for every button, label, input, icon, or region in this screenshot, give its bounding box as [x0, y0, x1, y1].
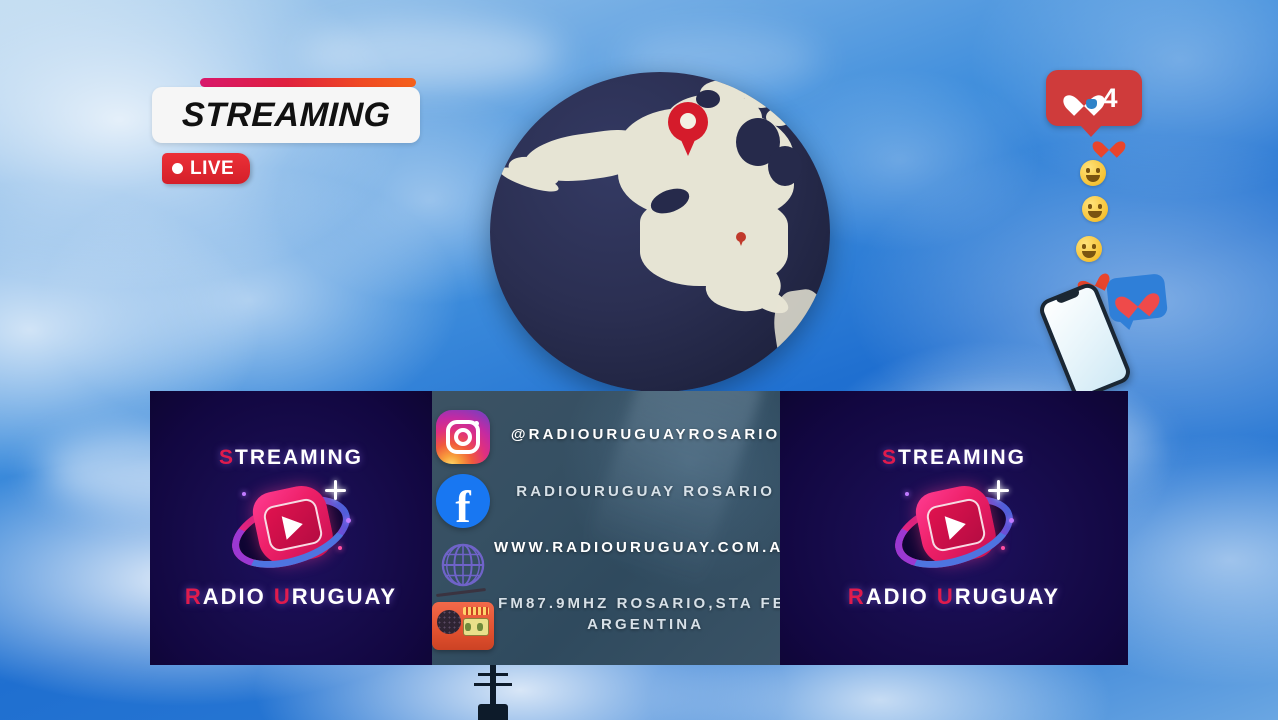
- banner-accent-bar: [200, 78, 416, 87]
- website-globe-icon[interactable]: [436, 538, 490, 592]
- logo-text-rest: TREAMING: [235, 446, 363, 469]
- like-count: 4: [1102, 85, 1117, 112]
- left-logo-streaming-text: STREAMING: [219, 446, 363, 470]
- smile-emoji-icon: [1082, 196, 1108, 222]
- live-label: LIVE: [190, 158, 234, 180]
- right-logo-streaming-text: STREAMING: [882, 446, 1026, 470]
- right-logo-panel: STREAMING RADIO URUGUAY: [780, 391, 1128, 665]
- play-button-logo-icon: [889, 474, 1019, 582]
- social-icon-column: f: [432, 391, 494, 665]
- social-text-column: @RADIOURUGUAYROSARIO RADIOURUGUAY ROSARI…: [494, 391, 780, 665]
- live-dot-icon: [172, 163, 183, 174]
- landmass: [770, 287, 830, 390]
- location-pin-icon: [668, 102, 708, 156]
- streaming-banner: STREAMING LIVE: [152, 78, 420, 196]
- live-badge: LIVE: [162, 153, 250, 184]
- logo-text-rest: RUGUAY: [292, 584, 397, 609]
- instagram-handle: @RADIOURUGUAYROSARIO: [494, 425, 780, 445]
- reaction-bubble: [1106, 273, 1168, 323]
- globe-sphere: [490, 72, 830, 392]
- smile-emoji-icon: [1076, 236, 1102, 262]
- logo-text-rest: ADIO: [866, 584, 937, 609]
- ocean-region: [752, 80, 770, 94]
- streaming-title: STREAMING: [181, 96, 391, 135]
- heart-icon: [1121, 283, 1154, 313]
- bottom-panel-row: STREAMING RADIO URUGUAY: [150, 391, 1128, 665]
- right-logo-radio-text: RADIO URUGUAY: [848, 584, 1060, 610]
- heart-icon: [1070, 86, 1098, 111]
- accent-letter: S: [882, 446, 898, 469]
- left-logo-radio-text: RADIO URUGUAY: [185, 584, 397, 610]
- like-count-badge[interactable]: 4: [1046, 70, 1142, 126]
- accent-letter: U: [274, 584, 292, 609]
- accent-letter: U: [937, 584, 955, 609]
- world-globe: [490, 72, 830, 392]
- banner-plate: STREAMING: [152, 87, 420, 143]
- facebook-page: RADIOURUGUAY ROSARIO: [494, 482, 780, 502]
- facebook-icon[interactable]: f: [436, 474, 490, 528]
- logo-text-rest: RUGUAY: [955, 584, 1060, 609]
- radio-icon: [432, 602, 494, 650]
- radio-frequency: FM87.9MHZ ROSARIO,STA FE, ARGENTINA: [494, 594, 780, 635]
- heart-icon: [1098, 134, 1120, 154]
- ocean-region: [768, 146, 802, 186]
- reactions-widget: 4: [1046, 70, 1196, 390]
- play-button-logo-icon: [226, 474, 356, 582]
- location-pin-icon-small: [736, 232, 746, 246]
- logo-text-rest: TREAMING: [898, 446, 1026, 469]
- accent-letter: S: [219, 446, 235, 469]
- accent-letter: R: [848, 584, 866, 609]
- smile-emoji-icon: [1080, 160, 1106, 186]
- website-url: WWW.RADIOURUGUAY.COM.AR: [494, 538, 780, 558]
- instagram-icon[interactable]: [436, 410, 490, 464]
- antenna-tower-silhouette: [470, 664, 516, 720]
- social-info-panel: f: [432, 391, 780, 665]
- left-logo-panel: STREAMING RADIO URUGUAY: [150, 391, 432, 665]
- landmass: [726, 74, 754, 90]
- stream-overlay-stage: STREAMING LIVE: [0, 0, 1278, 720]
- accent-letter: R: [185, 584, 203, 609]
- logo-text-rest: ADIO: [203, 584, 274, 609]
